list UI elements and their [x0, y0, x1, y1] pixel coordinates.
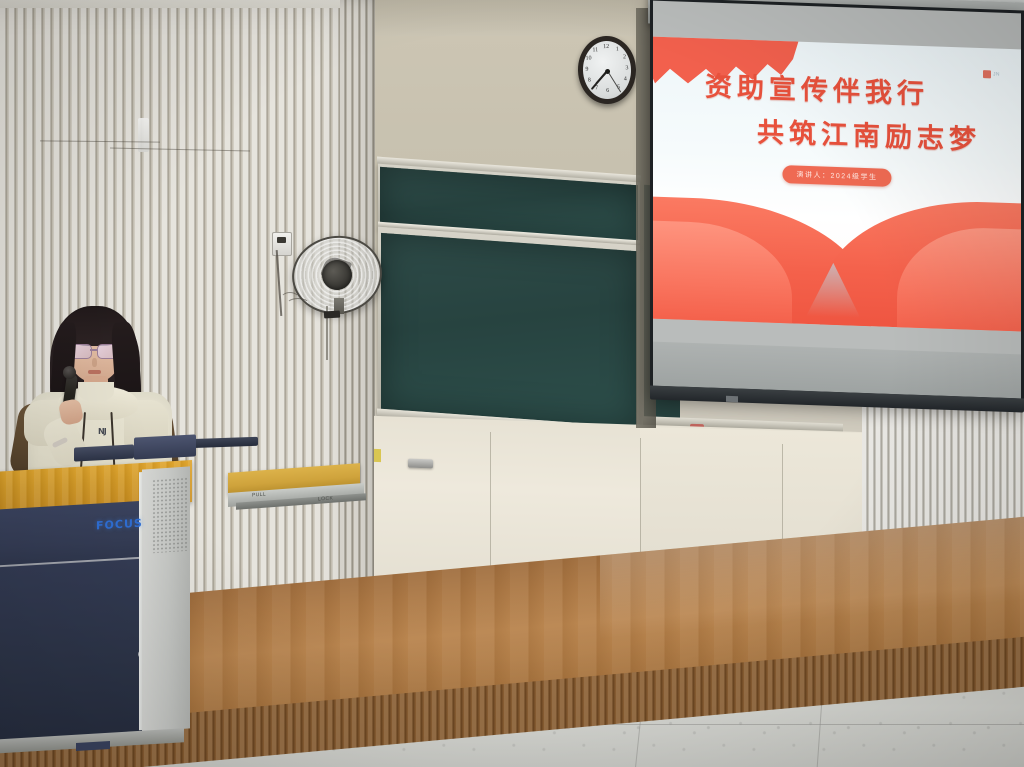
tray-label-right: LOCK [318, 495, 333, 502]
slide-logo-mark [983, 70, 991, 78]
podium-speaker-grille [152, 477, 188, 554]
presentation-slide: 资助宣传伴我行 共筑江南励志梦 演讲人：2024级学生 JN [653, 37, 1021, 332]
glasses-bridge [90, 349, 97, 351]
presenter-nose [92, 358, 97, 367]
slide-logo-text: JN [993, 71, 1000, 77]
screen-pull-tab[interactable] [726, 396, 738, 402]
slide-logo: JN [983, 68, 1007, 80]
podium-base-plaque [76, 741, 110, 751]
clock-numeral: 11 [590, 47, 600, 53]
clock-numeral: 2 [619, 54, 629, 60]
slide-title-line-2: 共筑江南励志梦 [653, 107, 1021, 162]
clock-numeral: 4 [620, 76, 630, 82]
tray-label-left: PULL [252, 492, 266, 499]
fan-label-tag [324, 311, 340, 319]
lectern-podium[interactable]: FOCUS [0, 452, 242, 767]
center-wall-top-band [375, 0, 665, 36]
wall-sensor-fixture [138, 118, 149, 152]
clock-center-pin [604, 69, 609, 74]
presenter-mouth [88, 370, 101, 374]
clock-numeral: 8 [584, 77, 594, 83]
clock-numeral: 9 [582, 67, 592, 73]
chalkboard-lower-panel [381, 233, 637, 427]
screen-surface: 资助宣传伴我行 共筑江南励志梦 演讲人：2024级学生 JN [653, 1, 1021, 399]
slide-subtitle-badge: 演讲人：2024级学生 [782, 165, 891, 187]
clock-face: 12 1 2 3 4 5 6 7 8 9 10 11 [582, 40, 632, 100]
fan-cord-curl-2 [286, 298, 310, 312]
clock-numeral: 12 [601, 44, 611, 50]
podium-desk-pad [74, 444, 134, 461]
presenter-collar [78, 382, 114, 402]
clock-numeral: 6 [603, 88, 613, 94]
podium-brand-logo: FOCUS [96, 517, 143, 533]
wall-bracket-fixture [408, 459, 433, 469]
lecture-hall-scene: 12 1 2 3 4 5 6 7 8 9 10 11 [0, 0, 1024, 767]
floor-grout-3 [560, 724, 1024, 725]
projection-screen[interactable]: 资助宣传伴我行 共筑江南励志梦 演讲人：2024级学生 JN [650, 0, 1024, 409]
podium-control-panel[interactable] [134, 434, 196, 459]
clock-numeral: 3 [622, 65, 632, 71]
dado-yellow-endcap [374, 449, 381, 462]
clock-numeral: 1 [612, 46, 622, 52]
clock-numeral: 10 [583, 55, 593, 61]
clock-bezel: 12 1 2 3 4 5 6 7 8 9 10 11 [577, 35, 637, 105]
wall-mounted-fan [292, 236, 378, 314]
wall-clock: 12 1 2 3 4 5 6 7 8 9 10 11 [578, 36, 640, 106]
